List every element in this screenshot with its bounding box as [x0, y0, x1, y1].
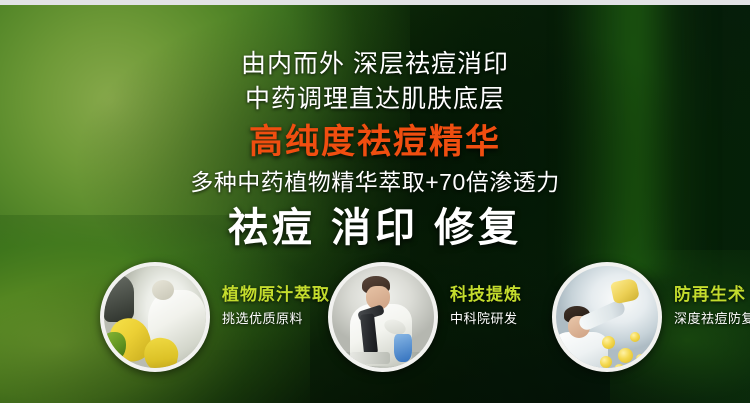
headline-subtitle: 多种中药植物精华萃取+70倍渗透力 [0, 166, 750, 198]
feature-subtitle-3: 深度祛痘防复发 [674, 309, 750, 328]
feature-item-tech-extraction: 科技提炼 中科院研发 [328, 262, 522, 382]
feature-subtitle-2: 中科院研发 [450, 309, 522, 328]
feature-caption-2: 科技提炼 中科院研发 [450, 262, 522, 328]
photo-1-head [152, 280, 174, 300]
scientist-microscope-photo [332, 266, 434, 368]
man-skincare-photo [556, 266, 658, 368]
photo-3-yellow-dot [614, 364, 625, 368]
photo-2-microscope-base [350, 352, 390, 364]
photo-3-yellow-dot [618, 348, 633, 363]
headline-line-2: 中药调理直达肌肤底层 [0, 83, 750, 116]
feature-photo-circle-1 [100, 262, 210, 372]
feature-title-1: 植物原汁萃取 [222, 284, 330, 306]
feature-title-3: 防再生术 [674, 284, 750, 306]
headline-benefits: 祛痘 消印 修复 [0, 202, 750, 254]
top-edge-strip [0, 0, 750, 5]
photo-1-scene [104, 266, 206, 368]
photo-2-blue-flask [394, 334, 412, 362]
headline-block: 由内而外 深层祛痘消印 中药调理直达肌肤底层 高纯度祛痘精华 多种中药植物精华萃… [0, 4, 750, 254]
product-promo-banner: 由内而外 深层祛痘消印 中药调理直达肌肤底层 高纯度祛痘精华 多种中药植物精华萃… [0, 0, 750, 410]
feature-row: 植物原汁萃取 挑选优质原料 [0, 262, 750, 390]
worker-harvesting-plants-photo [104, 266, 206, 368]
photo-3-yellow-dot [602, 336, 615, 349]
feature-caption-1: 植物原汁萃取 挑选优质原料 [222, 262, 330, 328]
feature-item-plant-extract: 植物原汁萃取 挑选优质原料 [100, 262, 330, 382]
photo-3-scene [556, 266, 658, 368]
feature-caption-3: 防再生术 深度祛痘防复发 [674, 262, 750, 328]
photo-1-background-shape [104, 274, 134, 322]
feature-title-2: 科技提炼 [450, 284, 522, 306]
headline-line-1: 由内而外 深层祛痘消印 [0, 48, 750, 81]
photo-3-yellow-dot [600, 356, 612, 368]
feature-subtitle-1: 挑选优质原料 [222, 309, 330, 328]
headline-highlight: 高纯度祛痘精华 [0, 120, 750, 164]
photo-3-yellow-dot [636, 354, 645, 363]
feature-photo-circle-3 [552, 262, 662, 372]
photo-2-scene [332, 266, 434, 368]
photo-3-yellow-cloth [610, 278, 640, 305]
feature-item-prevent-recurrence: 防再生术 深度祛痘防复发 [552, 262, 750, 382]
bottom-edge-strip [0, 403, 750, 410]
photo-3-arm [577, 299, 627, 332]
feature-photo-circle-2 [328, 262, 438, 372]
photo-3-yellow-dot [630, 332, 640, 342]
